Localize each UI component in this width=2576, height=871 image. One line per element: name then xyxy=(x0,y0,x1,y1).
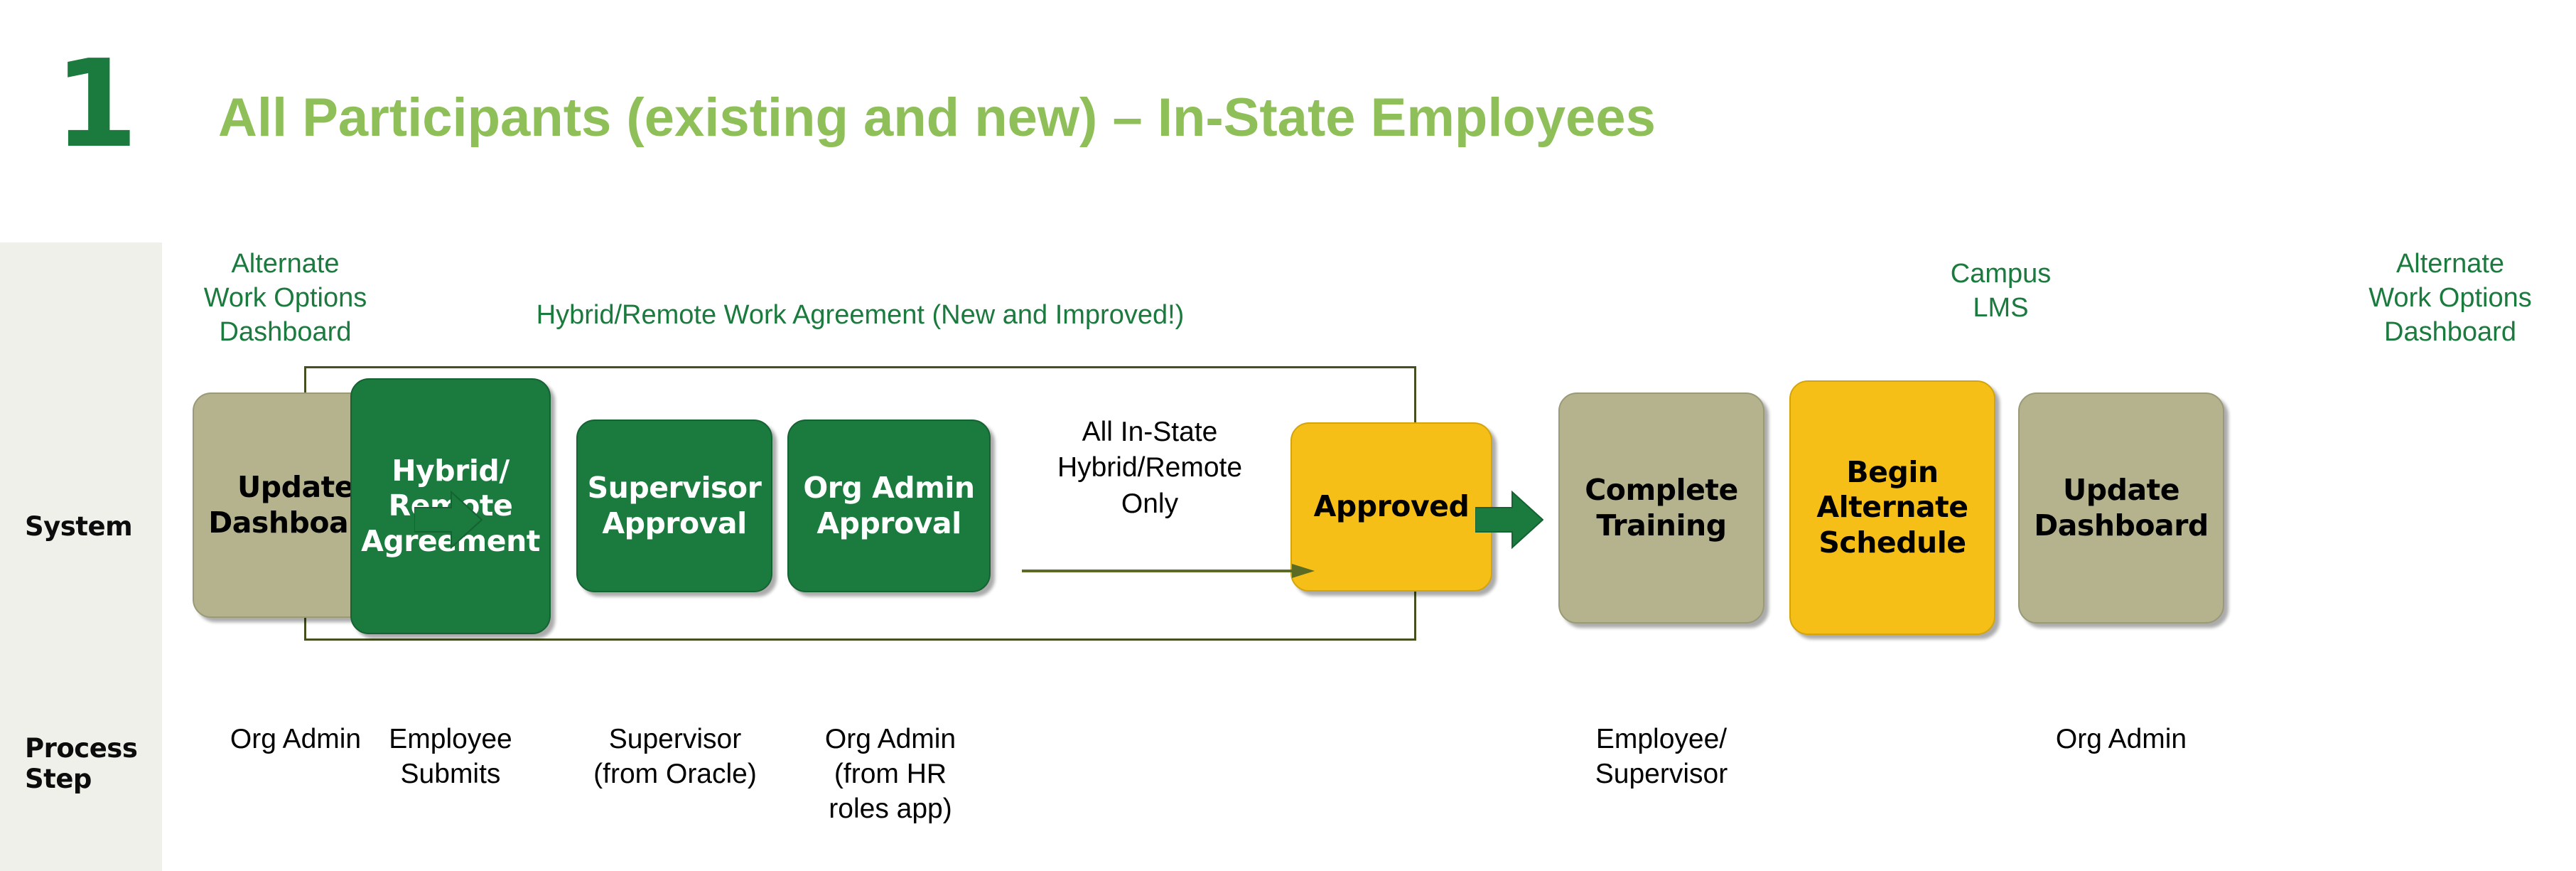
flow-arrow-right-icon xyxy=(1475,491,1543,549)
process-box-supervisor-approval[interactable]: Supervisor Approval xyxy=(576,420,772,592)
system-label-campus-lms: Campus LMS xyxy=(1882,257,2120,326)
connector-label-all-in-state-hybrid-remote-only: All In-State Hybrid/Remote Only xyxy=(1008,415,1292,522)
system-label-alternate-work-options-right: Alternate Work Options Dashboard xyxy=(2329,247,2571,350)
process-box-org-admin-approval[interactable]: Org Admin Approval xyxy=(787,420,991,592)
flow-arrow-right-icon xyxy=(414,491,483,549)
swimlane-canvas: Alternate Work Options Dashboard Hybrid/… xyxy=(162,0,2576,871)
process-box-begin-alternate-schedule[interactable]: Begin Alternate Schedule xyxy=(1789,380,1995,635)
system-label-hybrid-remote-work-agreement: Hybrid/Remote Work Agreement (New and Im… xyxy=(304,299,1416,333)
row-label-rail: System Process Step Who xyxy=(0,242,162,871)
row-label-system: System xyxy=(25,511,132,542)
who-label-org-admin-right: Org Admin xyxy=(2000,722,2242,757)
row-label-process-step: Process Step xyxy=(25,733,162,795)
process-box-complete-training[interactable]: Complete Training xyxy=(1558,392,1764,624)
who-label-employee-submits: Employee Submits xyxy=(330,722,571,791)
who-label-org-admin-from-hr-roles-app: Org Admin (from HR roles app) xyxy=(770,722,1011,826)
process-box-approved[interactable]: Approved xyxy=(1290,422,1492,592)
step-number-badge: 1 xyxy=(54,44,134,165)
process-flow-diagram: 1 All Participants (existing and new) – … xyxy=(0,0,2576,871)
connector-arrow-icon xyxy=(1022,562,1320,580)
who-label-supervisor-from-oracle: Supervisor (from Oracle) xyxy=(554,722,796,791)
process-box-update-dashboard-right[interactable]: Update Dashboard xyxy=(2018,392,2224,624)
who-label-employee-supervisor: Employee/ Supervisor xyxy=(1541,722,1782,791)
